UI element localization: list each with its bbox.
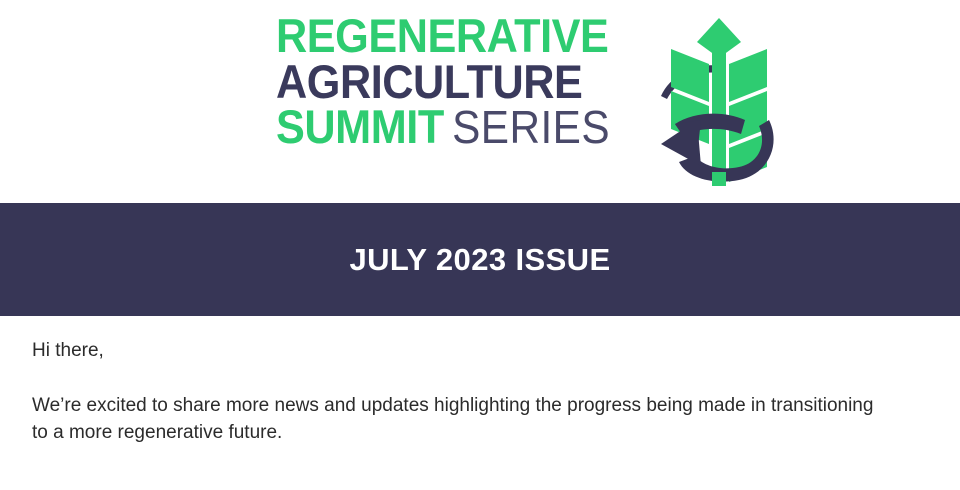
intro-paragraph: We’re excited to share more news and upd… [32, 392, 888, 447]
greeting-text: Hi there, [32, 338, 928, 364]
wordmark-series: SERIES [452, 106, 610, 149]
wordmark-line-regenerative: REGENERATIVE [276, 14, 610, 58]
newsletter-page: REGENERATIVE AGRICULTURE SUMMIT SERIES [0, 0, 960, 490]
wheat-stalk-with-circular-arrow-icon [657, 16, 781, 194]
issue-banner: JULY 2023 ISSUE [0, 203, 960, 316]
brand-logo-lockup[interactable]: REGENERATIVE AGRICULTURE SUMMIT SERIES [276, 14, 781, 194]
wordmark-summit: SUMMIT [276, 105, 444, 149]
wordmark-line-summit-series: SUMMIT SERIES [276, 105, 610, 149]
email-body: Hi there, We’re excited to share more ne… [0, 316, 960, 490]
wordmark-line-agriculture: AGRICULTURE [276, 60, 610, 104]
logo-header: REGENERATIVE AGRICULTURE SUMMIT SERIES [0, 0, 960, 203]
issue-banner-title: JULY 2023 ISSUE [349, 242, 610, 278]
brand-wordmark: REGENERATIVE AGRICULTURE SUMMIT SERIES [276, 14, 639, 149]
